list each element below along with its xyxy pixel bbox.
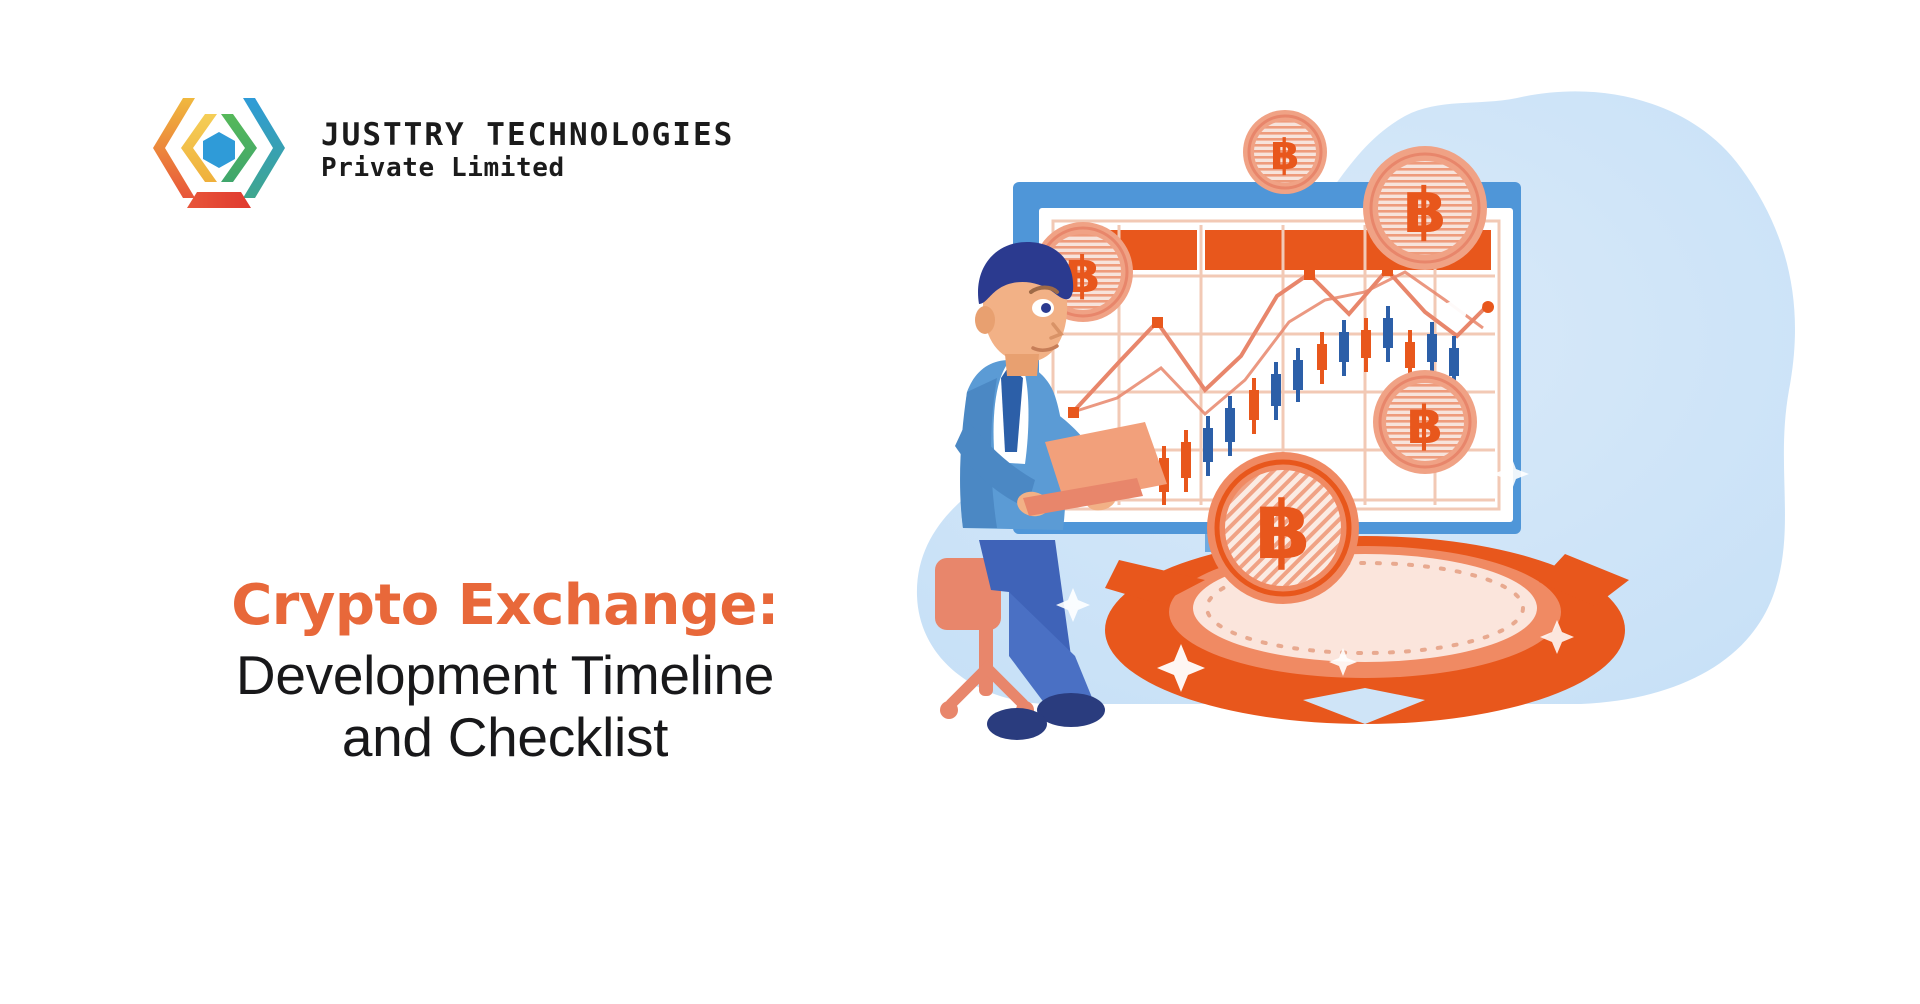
headline-line-3: and Checklist (0, 706, 1010, 769)
headline-accent-line: Crypto Exchange: (0, 575, 1010, 638)
company-name: JUSTTRY TECHNOLOGIES (321, 119, 734, 152)
brand-wordmark: JUSTTRY TECHNOLOGIES Private Limited (321, 119, 734, 183)
company-suffix: Private Limited (321, 155, 734, 182)
svg-text:฿: ฿ (1270, 130, 1299, 179)
svg-text:฿: ฿ (1255, 484, 1311, 577)
svg-text:฿: ฿ (1407, 396, 1443, 456)
brand-logo: JUSTTRY TECHNOLOGIES Private Limited (145, 88, 734, 213)
headline-line-2: Development Timeline (0, 644, 1010, 707)
svg-text:฿: ฿ (1403, 174, 1446, 247)
crypto-trading-illustration: ฿ ฿ ฿ ฿ (905, 60, 1915, 780)
orange-disc-platform (1105, 536, 1629, 724)
bitcoin-coin-main: ฿ (1207, 452, 1359, 604)
bitcoin-coin-top-mid: ฿ (1243, 110, 1327, 194)
bitcoin-coin-top-right: ฿ (1363, 146, 1487, 270)
hexagon-chevron-logo-icon (145, 88, 293, 213)
headline-block: Crypto Exchange: Development Timeline an… (0, 575, 1010, 769)
bitcoin-coin-mid-right: ฿ (1373, 370, 1477, 474)
banner-canvas: JUSTTRY TECHNOLOGIES Private Limited Cry… (0, 0, 1920, 1004)
